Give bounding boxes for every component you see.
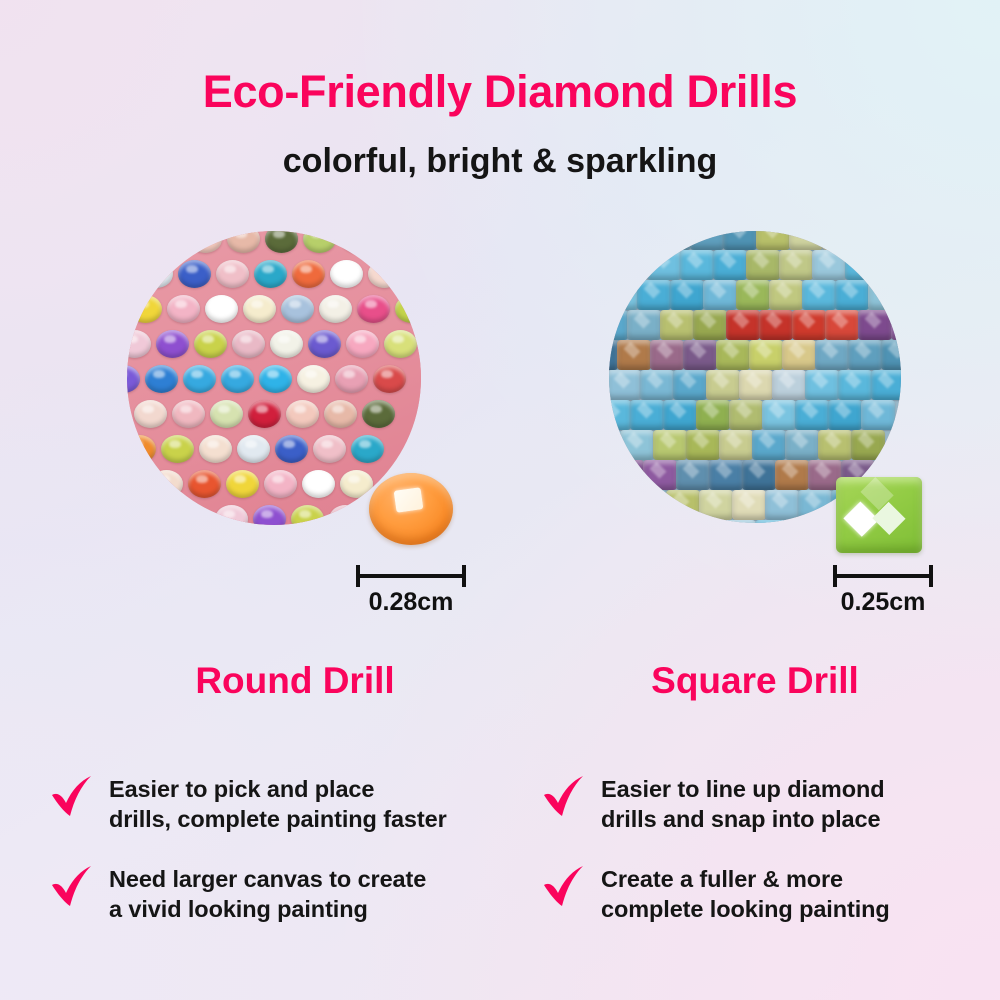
drill-bead [706,370,740,400]
drill-bead [633,490,667,520]
drill-bead [630,400,664,430]
drill-bead [756,231,790,250]
drill-bead [726,310,760,340]
drill-bead [673,370,707,400]
drill-bead [815,340,849,370]
square-bullet-1: Easier to line up diamond drills and sna… [540,774,1000,834]
drill-bead [881,340,901,370]
drill-bead [127,470,145,498]
drill-bead [324,400,357,428]
drill-bead [140,260,173,288]
drill-bead [643,460,677,490]
drill-bead [167,295,200,323]
drill-bead [680,250,714,280]
drill-bead [861,400,895,430]
drill-bead [227,231,260,253]
bullet-text: Create a fuller & more complete looking … [601,864,890,924]
drill-bead [795,400,829,430]
bullet-text: Easier to pick and place drills, complet… [109,774,447,834]
drill-bead [772,370,806,400]
drill-bead [653,430,687,460]
drill-bead [640,370,674,400]
round-bullet-2: Need larger canvas to create a vivid loo… [48,864,518,924]
drill-bead [614,250,648,280]
drill-bead [319,295,352,323]
drill-bead [609,280,638,310]
drill-bead [609,370,641,400]
drill-bead [292,260,325,288]
drill-bead [779,250,813,280]
drill-bead [127,231,146,253]
drill-bead [689,520,723,523]
drill-bead [656,520,690,523]
drill-bead [858,310,892,340]
drill-bead [194,330,227,358]
drill-bead [368,260,401,288]
drill-bead [129,295,162,323]
drill-bead [683,340,717,370]
drill-bead [221,365,254,393]
round-bullet-1: Easier to pick and place drills, complet… [48,774,518,834]
drill-bead [746,250,780,280]
drill-bead [713,250,747,280]
round-bead-mosaic [127,231,421,525]
page-subtitle: colorful, bright & sparkling [0,142,1000,181]
drill-bead [660,310,694,340]
drill-bead [248,400,281,428]
drill-bead [868,280,901,310]
drill-bead [253,505,286,525]
drill-bead [722,520,756,523]
drill-bead [838,370,872,400]
round-drill-facet [394,487,424,512]
drill-bead [291,505,324,525]
drill-bead [243,295,276,323]
dimension-cap-right [929,565,933,587]
drill-bead [216,260,249,288]
drill-bead [686,430,720,460]
drill-bead [785,430,819,460]
drill-bead [812,250,846,280]
drill-bead [308,330,341,358]
drill-bead [215,505,248,525]
drill-bead [145,365,178,393]
drill-bead [127,365,140,393]
drill-bead [788,520,822,523]
check-icon [540,866,588,912]
drill-bead [696,400,730,430]
drill-bead [617,340,651,370]
drill-bead [699,490,733,520]
dimension-bar [356,574,466,578]
drill-bead [610,460,644,490]
drill-bead [286,400,319,428]
drill-bead [127,260,135,288]
infographic-canvas: Eco-Friendly Diamond Drills colorful, br… [0,0,1000,1000]
drill-bead [417,231,421,253]
drill-bead [340,470,373,498]
drill-bead [637,280,671,310]
square-drill-heading: Square Drill [555,660,955,702]
drill-bead [650,340,684,370]
drill-bead [878,250,901,280]
drill-bead [871,370,901,400]
drill-bead [406,260,421,288]
square-measurement-label: 0.25cm [793,588,973,617]
drill-bead [161,435,194,463]
drill-bead [835,280,869,310]
drill-bead [357,295,390,323]
drill-bead [782,340,816,370]
drill-bead [855,231,889,250]
drill-bead [156,330,189,358]
drill-bead [769,280,803,310]
drill-bead [789,231,823,250]
drill-bead [384,330,417,358]
drill-bead [792,310,826,340]
check-icon [540,776,588,822]
dimension-bar [833,574,933,578]
drill-bead [183,365,216,393]
drill-bead [303,231,336,253]
drill-bead [297,365,330,393]
drill-bead [762,400,796,430]
drill-bead [802,280,836,310]
drill-bead [151,231,184,253]
drill-bead [270,330,303,358]
drill-bead [739,370,773,400]
square-bullet-2: Create a fuller & more complete looking … [540,864,1000,924]
drill-bead [329,505,362,525]
drill-bead [362,400,395,428]
drill-bead [188,470,221,498]
drill-bead [127,505,134,525]
drill-bead [647,250,681,280]
drill-bead [134,400,167,428]
drill-bead [749,340,783,370]
drill-bead [732,490,766,520]
drill-bead [709,460,743,490]
drill-bead [178,260,211,288]
drill-bead [690,231,724,250]
drill-bead [719,430,753,460]
drill-bead [150,470,183,498]
drill-bead [189,231,222,253]
drill-bead [259,365,292,393]
round-measurement-label: 0.28cm [316,588,506,617]
drill-bead [265,231,298,253]
check-icon [48,866,96,912]
drill-bead [127,435,156,463]
drill-bead [205,295,238,323]
drill-bead [264,470,297,498]
drill-bead [609,490,634,520]
drill-bead [888,231,901,250]
drill-bead [627,310,661,340]
drill-bead [341,231,374,253]
drill-bead [237,435,270,463]
drill-bead [666,490,700,520]
drill-bead [657,231,691,250]
drill-bead [254,260,287,288]
drill-bead [851,430,885,460]
drill-bead [723,231,757,250]
drill-bead [624,231,658,250]
drill-bead [818,430,852,460]
drill-bead [670,280,704,310]
bullet-text: Easier to line up diamond drills and sna… [601,774,884,834]
drill-bead [232,330,265,358]
drill-bead [822,231,856,250]
drill-bead [281,295,314,323]
drill-bead [139,505,172,525]
drill-bead [775,460,809,490]
drill-bead [313,435,346,463]
drill-bead [199,435,232,463]
drill-bead [302,470,335,498]
drill-bead [330,260,363,288]
drill-bead [798,490,832,520]
drill-bead [275,435,308,463]
drill-bead [752,430,786,460]
dimension-cap-right [462,565,466,587]
drill-bead [742,460,776,490]
orange-round-drill-sample [369,473,453,545]
round-drills-photo [127,231,421,525]
drill-bead [351,435,384,463]
drill-bead [759,310,793,340]
drill-bead [703,280,737,310]
drill-bead [335,365,368,393]
drill-bead [620,430,654,460]
drill-bead [609,231,625,250]
drill-bead [755,520,789,523]
drill-bead [172,400,205,428]
drill-bead [609,400,631,430]
drill-bead [825,310,859,340]
round-drill-heading: Round Drill [95,660,495,702]
drill-bead [346,330,379,358]
drill-bead [226,470,259,498]
green-square-drill-sample [836,477,922,553]
drill-bead [373,365,406,393]
drill-bead [765,490,799,520]
page-title: Eco-Friendly Diamond Drills [0,66,1000,118]
square-dimension-line [833,565,933,585]
bullet-text: Need larger canvas to create a vivid loo… [109,864,426,924]
drill-bead [716,340,750,370]
drill-bead [828,400,862,430]
drill-bead [127,400,129,428]
drill-bead [736,280,770,310]
drill-bead [805,370,839,400]
drill-bead [379,231,412,253]
drill-bead [395,295,421,323]
drill-bead [729,400,763,430]
drill-bead [676,460,710,490]
drill-bead [663,400,697,430]
drill-bead [891,310,901,340]
drill-bead [609,310,628,340]
check-icon [48,776,96,822]
drill-bead [848,340,882,370]
drill-bead [177,505,210,525]
drill-bead [127,330,151,358]
drill-bead [210,400,243,428]
drill-bead [693,310,727,340]
drill-bead [845,250,879,280]
drill-bead [609,520,624,523]
round-dimension-line [356,565,466,585]
drill-bead [623,520,657,523]
